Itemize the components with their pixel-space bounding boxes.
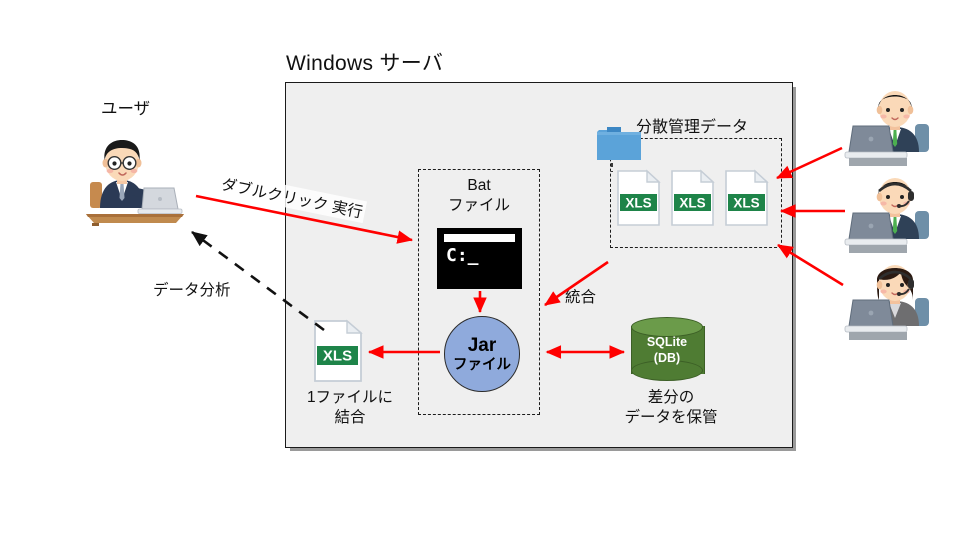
- diagram-canvas: Windows サーバ ユーザ: [0, 0, 970, 546]
- output-xls-label: 1ファイルに 結合: [290, 388, 410, 428]
- folder-icon: [595, 124, 643, 164]
- jar-file-node: Jar ファイル: [444, 316, 520, 392]
- database-line2: (DB): [654, 351, 680, 365]
- jar-label-line1: Jar: [468, 335, 497, 356]
- user-label: ユーザ: [101, 95, 150, 119]
- bat-file-label: Bat ファイル: [418, 176, 540, 216]
- console-prompt-text: C:_: [446, 245, 479, 266]
- database-caption: SQLite(DB): [631, 335, 703, 366]
- data-analysis-flow-label: データ分析: [153, 278, 231, 300]
- person-headset-laptop-icon: [845, 175, 957, 259]
- console-titlebar: [444, 234, 515, 242]
- database-line1: SQLite: [647, 335, 687, 349]
- person-at-desk-icon: [72, 130, 192, 226]
- database-label: 差分の データを保管: [605, 388, 737, 428]
- person-laptop-icon: [845, 88, 957, 172]
- integrate-flow-label: 統合: [565, 285, 596, 307]
- distributed-data-label: 分散管理データ: [636, 113, 748, 137]
- output-xls-file-icon: XLS: [314, 320, 362, 382]
- xls-file-icon: XLS: [617, 170, 660, 226]
- server-title: Windows サーバ: [286, 47, 443, 77]
- sqlite-database-icon: SQLite(DB): [631, 317, 703, 381]
- cylinder-top: [631, 317, 703, 337]
- svg-text:XLS: XLS: [733, 195, 759, 210]
- svg-text:XLS: XLS: [625, 195, 651, 210]
- jar-label-line2: ファイル: [453, 357, 511, 373]
- svg-text:XLS: XLS: [679, 195, 705, 210]
- woman-headset-laptop-icon: [845, 262, 957, 346]
- console-window-icon: C:_: [437, 228, 522, 289]
- xls-file-icon: XLS: [725, 170, 768, 226]
- xls-file-icon: XLS: [671, 170, 714, 226]
- svg-text:XLS: XLS: [323, 348, 352, 365]
